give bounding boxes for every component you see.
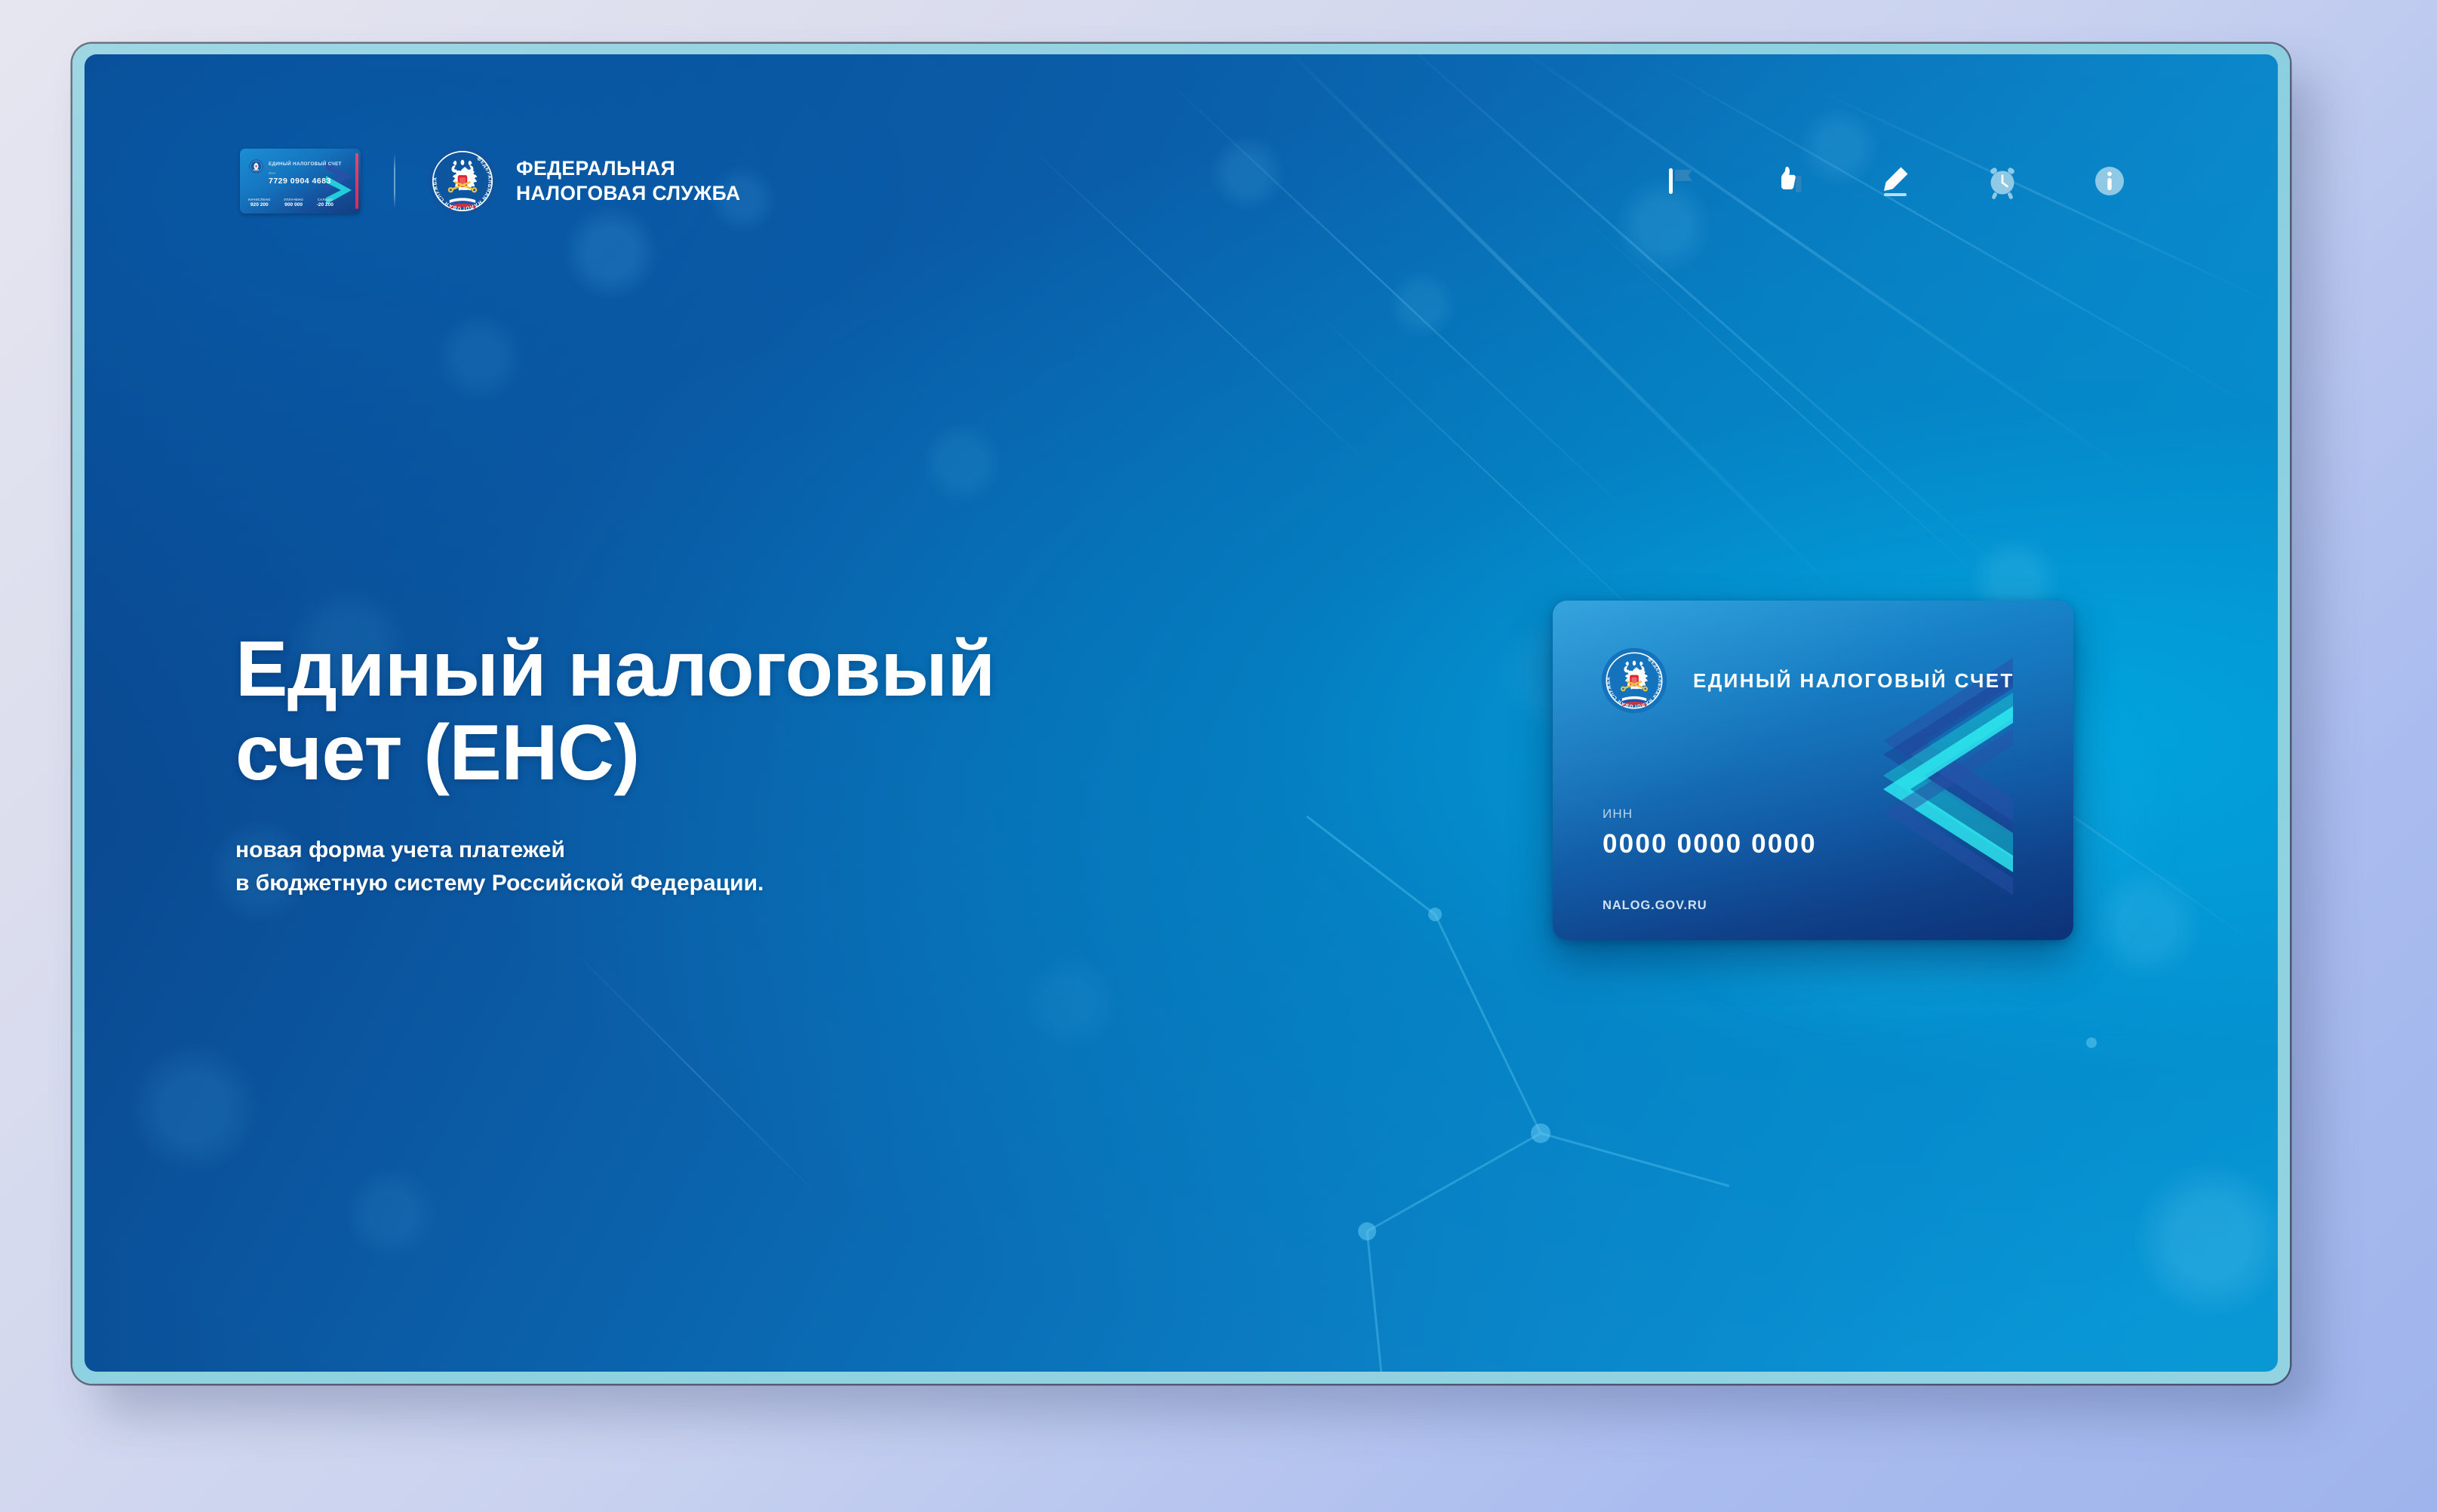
mini-card-stat-value: 920 200 bbox=[248, 202, 271, 207]
mini-card-inn-label: ИНН bbox=[269, 171, 276, 175]
mini-card-inn-value: 7729 0904 4683 bbox=[269, 177, 331, 186]
mini-card-stat: НАЧИСЛЕНО 920 200 bbox=[248, 198, 271, 207]
mini-card-stat: УПЛАЧЕНО 900 000 bbox=[284, 198, 303, 207]
mini-card-stat-label: УПЛАЧЕНО bbox=[284, 198, 303, 201]
ens-card-site-url: NALOG.GOV.RU bbox=[1603, 899, 1707, 913]
info-circle-icon[interactable] bbox=[2089, 161, 2130, 201]
ens-card-magenta-stripe bbox=[2054, 631, 2063, 916]
brand-block[interactable]: ЕДИНЫЙ НАЛОГОВЫЙ СЧЕТ ИНН 7729 0904 4683… bbox=[240, 146, 741, 217]
mini-card-title: ЕДИНЫЙ НАЛОГОВЫЙ СЧЕТ bbox=[269, 161, 342, 167]
hero-copy: Единый налоговый счет (ЕНС) новая форма … bbox=[235, 628, 995, 923]
mini-card-stat-label: НАЧИСЛЕНО bbox=[248, 198, 271, 201]
alarm-clock-icon[interactable] bbox=[1982, 161, 2023, 201]
brand-divider bbox=[394, 153, 395, 209]
mini-card-stat-value: 900 000 bbox=[284, 202, 303, 207]
mini-card-stats-row: НАЧИСЛЕНО 920 200 УПЛАЧЕНО 900 000 САЛЬД… bbox=[248, 198, 333, 207]
mini-card-stat: САЛЬДО -20 200 bbox=[317, 198, 333, 207]
screen-frame: ЕДИНЫЙ НАЛОГОВЫЙ СЧЕТ ИНН 7729 0904 4683… bbox=[72, 44, 2290, 1384]
mini-ens-card-thumbnail[interactable]: ЕДИНЫЙ НАЛОГОВЫЙ СЧЕТ ИНН 7729 0904 4683… bbox=[240, 149, 361, 214]
fns-emblem-icon: ФЕДЕРАЛЬНАЯ НАЛОГОВАЯ СЛУЖБА bbox=[1601, 647, 1667, 714]
ens-card-header: ФЕДЕРАЛЬНАЯ НАЛОГОВАЯ СЛУЖБА ЕДИНЫЙ НАЛО… bbox=[1601, 647, 2014, 714]
ens-card-title: ЕДИНЫЙ НАЛОГОВЫЙ СЧЕТ bbox=[1693, 669, 2014, 693]
mini-card-magenta-stripe bbox=[355, 153, 358, 209]
site-header: ЕДИНЫЙ НАЛОГОВЫЙ СЧЕТ ИНН 7729 0904 4683… bbox=[240, 136, 2134, 226]
fns-emblem-icon: ФЕДЕРАЛЬНАЯ НАЛОГОВАЯ СЛУЖБА bbox=[427, 146, 498, 217]
fns-emblem-icon bbox=[249, 159, 263, 174]
header-action-icons bbox=[1661, 161, 2134, 201]
thumbs-up-icon[interactable] bbox=[1768, 161, 1809, 201]
mini-card-stat-value: -20 200 bbox=[317, 202, 333, 207]
ens-card[interactable]: ФЕДЕРАЛЬНАЯ НАЛОГОВАЯ СЛУЖБА ЕДИНЫЙ НАЛО… bbox=[1553, 601, 2073, 940]
page-title: Единый налоговый счет (ЕНС) bbox=[235, 628, 995, 796]
pencil-icon[interactable] bbox=[1875, 161, 1916, 201]
flag-icon[interactable] bbox=[1661, 161, 1701, 201]
ens-card-inn-label: ИНН bbox=[1603, 807, 1633, 822]
hero-subtitle: новая форма учета платежей в бюджетную с… bbox=[235, 834, 995, 901]
fns-wordmark: ФЕДЕРАЛЬНАЯ НАЛОГОВАЯ СЛУЖБА bbox=[516, 156, 741, 206]
hero-panel: ЕДИНЫЙ НАЛОГОВЫЙ СЧЕТ ИНН 7729 0904 4683… bbox=[85, 54, 2278, 1372]
ens-card-inn-value: 0000 0000 0000 bbox=[1603, 829, 1817, 859]
mini-card-stat-label: САЛЬДО bbox=[317, 198, 333, 201]
